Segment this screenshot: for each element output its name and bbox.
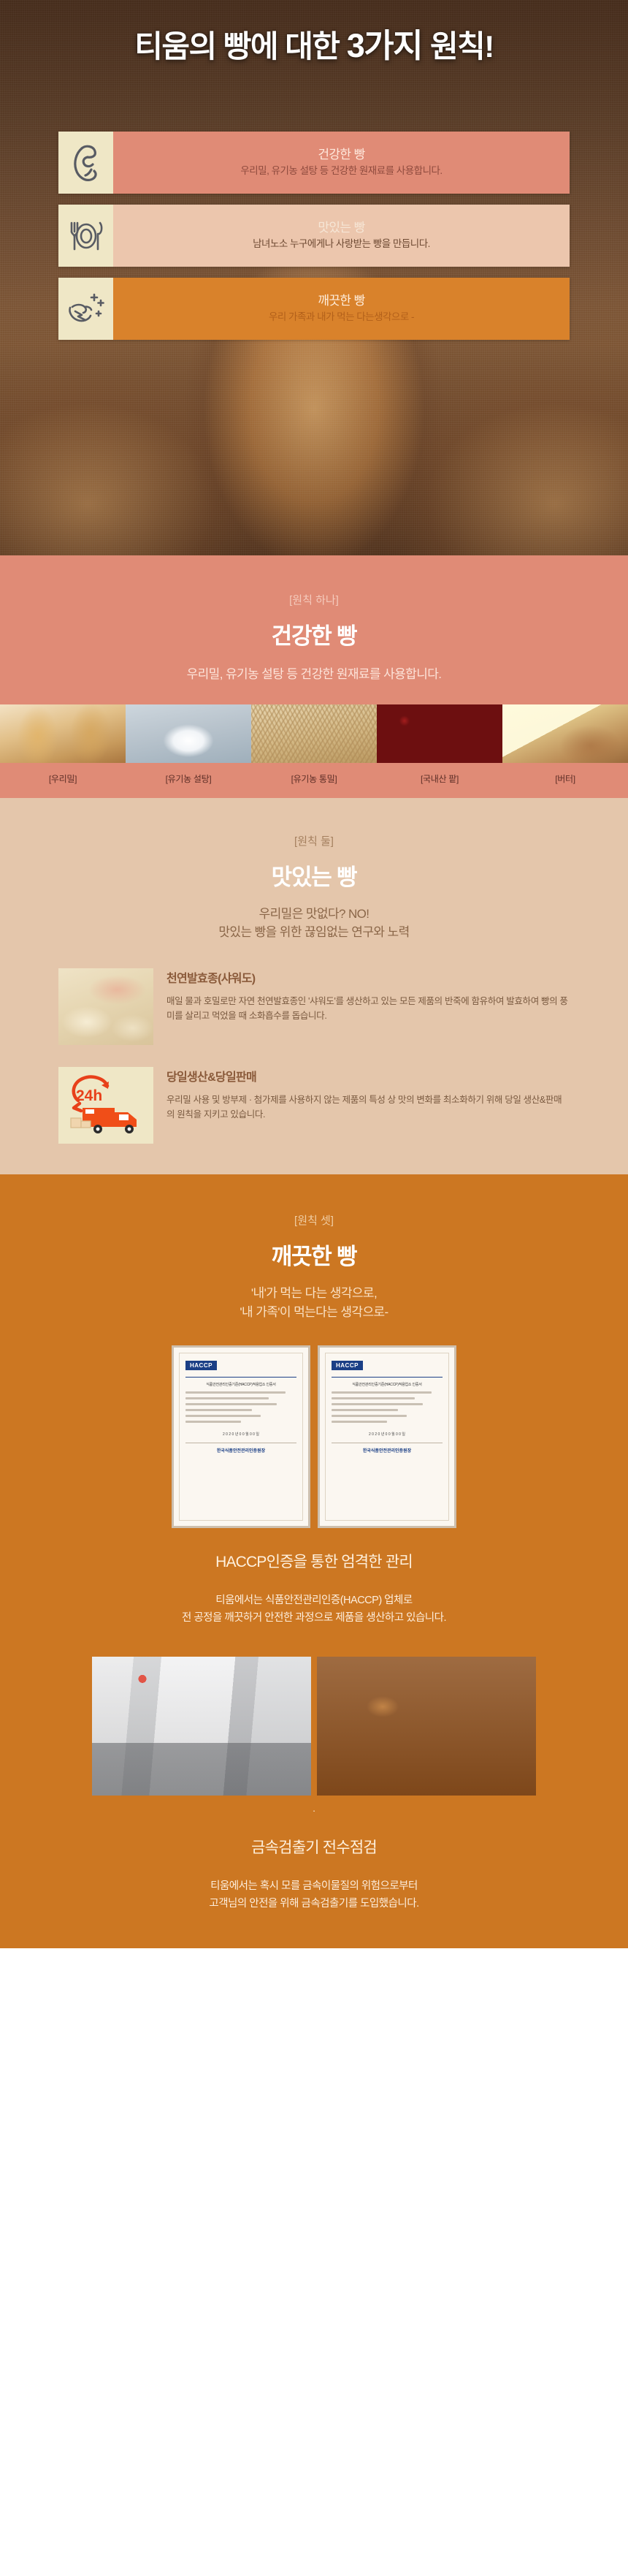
ingredient-label: [유기농 설탕] [126,772,251,785]
haccp-body: 티움에서는 식품안전관리인증(HACCP) 업체로 전 공정을 깨끗하거 안전한… [0,1592,628,1627]
metal-detector-machine-photo [92,1657,311,1796]
certificate-line [185,1391,286,1394]
certificate-line [332,1403,423,1405]
metal-detector-body: 티움에서는 혹시 모를 금속이물질의 위험으로부터 고객님의 안전을 위해 금속… [0,1878,628,1913]
ingredient-label: [국내산 팥] [377,772,502,785]
feature-sourdough-heading: 천연발효종(샤워도) [166,968,570,986]
hero-section: 티움의 빵에 대한 3가지 원칙! 건강한 빵 우리밀, 유기농 설탕 등 건강… [0,0,628,555]
certificate-line [332,1409,398,1411]
principle-card-tasty-desc: 남녀노소 누구에게나 사랑받는 빵을 만듭니다. [253,238,430,251]
ingredient-label: [버터] [502,772,628,785]
haccp-certificate-images: HACCP 식품안전관리인증기준(HACCP)적용업소 인증서 2 0 2 0 … [168,1345,460,1528]
section3-kicker: [원칙 셋] [0,1212,628,1228]
section3-subtitle-line1: '내'가 먹는 다는 생각으로, [251,1286,377,1300]
svg-text:24h: 24h [76,1087,102,1104]
feature-sourdough: 천연발효종(샤워도) 매일 물과 호밀로만 자연 천연발효종인 '샤워도'를 생… [58,968,570,1045]
section-clean-bread: [원칙 셋] 깨끗한 빵 '내'가 먹는 다는 생각으로, '내 가족'이 먹는… [0,1174,628,1948]
feature-sameday-body: 우리밀 사용 및 방부제 · 첨가제를 사용하지 않는 제품의 특성 상 맛의 … [166,1093,570,1122]
ingredient-label: [유기농 통밀] [251,772,377,785]
page-title: 티움의 빵에 대한 3가지 원칙! [0,19,628,67]
principle-card-clean-title: 깨끗한 빵 [318,293,364,308]
principle-card-clean[interactable]: 깨끗한 빵 우리 가족과 내가 먹는 다는생각으로 - [58,278,570,340]
ingredient-label: [우리밀] [0,772,126,785]
principle-card-clean-body: 깨끗한 빵 우리 가족과 내가 먹는 다는생각으로 - [113,278,570,340]
section3-title: 깨끗한 빵 [0,1238,628,1271]
principle-card-healthy-title: 건강한 빵 [318,147,364,162]
certificate-seal: 한국식품안전관리인증원장 [332,1443,443,1454]
ingredient-label-row: [우리밀] [유기농 설탕] [유기농 통밀] [국내산 팥] [버터] [0,763,628,798]
sourdough-starter-photo [58,968,153,1045]
certificate-inner: HACCP 식품안전관리인증기준(HACCP)적용업소 인증서 2 0 2 0 … [325,1353,449,1521]
haccp-certificate-right[interactable]: HACCP 식품안전관리인증기준(HACCP)적용업소 인증서 2 0 2 0 … [318,1345,456,1528]
metal-detector-body-line1: 티움에서는 혹시 모를 금속이물질의 위험으로부터 [210,1880,418,1892]
certificate-line [332,1397,415,1399]
certificate-title: 식품안전관리인증기준(HACCP)적용업소 인증서 [185,1382,296,1387]
section2-subtitle-line1: 우리밀은 맛없다? NO! [259,907,369,921]
principle-card-tasty-title: 맛있는 빵 [318,220,364,235]
certificate-line [185,1403,277,1405]
section2-kicker: [원칙 둘] [0,833,628,848]
section-tasty-bread: [원칙 둘] 맛있는 빵 우리밀은 맛없다? NO! 맛있는 빵을 위한 끊임없… [0,798,628,1174]
principle-card-healthy-body: 건강한 빵 우리밀, 유기농 설탕 등 건강한 원재료를 사용합니다. [113,132,570,194]
certificate-line [332,1421,387,1423]
section1-kicker: [원칙 하나] [0,592,628,607]
certificate-line [332,1415,407,1417]
principle-card-clean-desc: 우리 가족과 내가 먹는 다는생각으로 - [269,311,414,324]
bread-on-conveyor-photo [317,1657,536,1796]
red-bean-photo [377,704,502,763]
certificate-title: 식품안전관리인증기준(HACCP)적용업소 인증서 [332,1382,443,1387]
section3-subtitle-line2: '내 가족'이 먹는다는 생각으로- [240,1305,388,1319]
infographic-page: 티움의 빵에 대한 3가지 원칙! 건강한 빵 우리밀, 유기농 설탕 등 건강… [0,0,628,2576]
feature-sameday: 24h 당일생산&당일판매 우리밀 사용 및 방부제 · 첨가제를 사용하지 않… [58,1067,570,1144]
principle-card-tasty[interactable]: 맛있는 빵 남녀노소 누구에게나 사랑받는 빵을 만듭니다. [58,205,570,267]
photo-overlay [317,1657,536,1796]
metal-detector-body-line2: 고객님의 안전을 위해 금속검출기를 도입했습니다. [209,1898,418,1910]
principle-card-tasty-body: 맛있는 빵 남녀노소 누구에게나 사랑받는 빵을 만듭니다. [113,205,570,267]
section1-title: 건강한 빵 [0,618,628,650]
certificate-line [185,1421,241,1423]
wheat-field-photo [0,704,126,763]
haccp-body-line2: 전 공정을 깨끗하거 안전한 과정으로 제품을 생산하고 있습니다. [182,1612,446,1624]
section2-subtitle-line2: 맛있는 빵을 위한 끊임없는 연구와 노력 [218,925,409,939]
certificate-seal: 한국식품안전관리인증원장 [185,1443,296,1454]
photo-overlay [92,1657,311,1796]
feature-sourdough-text: 천연발효종(샤워도) 매일 물과 호밀로만 자연 천연발효종인 '샤워도'를 생… [153,968,570,1024]
principle-card-healthy-desc: 우리밀, 유기농 설탕 등 건강한 원재료를 사용합니다. [240,164,442,178]
section1-subtitle: 우리밀, 유기농 설탕 등 건강한 원재료를 사용합니다. [0,665,628,704]
organic-wholegrain-photo [251,704,377,763]
haccp-badge: HACCP [185,1361,217,1370]
haccp-badge: HACCP [332,1361,363,1370]
facility-photo-row [88,1657,540,1796]
fork-plate-knife-icon [58,205,113,267]
feature-sameday-text: 당일생산&당일판매 우리밀 사용 및 방부제 · 첨가제를 사용하지 않는 제품… [153,1067,570,1122]
principle-card-healthy[interactable]: 건강한 빵 우리밀, 유기농 설탕 등 건강한 원재료를 사용합니다. [58,132,570,194]
page-title-number: 3가지 [347,27,430,64]
certificate-line [185,1415,261,1417]
delivery-truck-24h-icon: 24h [58,1067,153,1144]
divider [332,1377,443,1378]
section3-subtitle: '내'가 먹는 다는 생각으로, '내 가족'이 먹는다는 생각으로- [0,1284,628,1323]
certificate-date: 2 0 2 0 년 0 0 월 0 0 일 [185,1432,296,1437]
ingredient-photo-strip [0,704,628,763]
certificate-line [185,1397,269,1399]
page-title-pre: 티움의 빵에 대한 [134,29,347,64]
feature-sameday-heading: 당일생산&당일판매 [166,1067,570,1084]
butter-photo [502,704,628,763]
certificate-inner: HACCP 식품안전관리인증기준(HACCP)적용업소 인증서 2 0 2 0 … [179,1353,303,1521]
section-healthy-bread: [원칙 하나] 건강한 빵 우리밀, 유기농 설탕 등 건강한 원재료를 사용합… [0,555,628,798]
washing-hands-sparkle-icon [58,278,113,340]
feature-sourdough-body: 매일 물과 호밀로만 자연 천연발효종인 '샤워도'를 생산하고 있는 모든 제… [166,994,570,1024]
certificate-line [332,1391,432,1394]
certificate-date: 2 0 2 0 년 0 0 월 0 0 일 [332,1432,443,1437]
divider [185,1377,296,1378]
haccp-body-line1: 티움에서는 식품안전관리인증(HACCP) 업체로 [215,1595,412,1606]
section2-subtitle: 우리밀은 맛없다? NO! 맛있는 빵을 위한 끊임없는 연구와 노력 [0,905,628,968]
metal-dot: . [0,1803,628,1814]
principle-card-list: 건강한 빵 우리밀, 유기농 설탕 등 건강한 원재료를 사용합니다. [0,132,628,351]
metal-detector-heading: 금속검출기 전수점검 [0,1836,628,1858]
organic-sugar-photo [126,704,251,763]
certificate-line [185,1409,252,1411]
muscle-arm-icon [58,132,113,194]
haccp-certificate-left[interactable]: HACCP 식품안전관리인증기준(HACCP)적용업소 인증서 2 0 2 0 … [172,1345,310,1528]
page-title-post: 원칙! [430,29,494,64]
haccp-heading: HACCP인증을 통한 엄격한 관리 [0,1550,628,1572]
section2-title: 맛있는 빵 [0,859,628,892]
